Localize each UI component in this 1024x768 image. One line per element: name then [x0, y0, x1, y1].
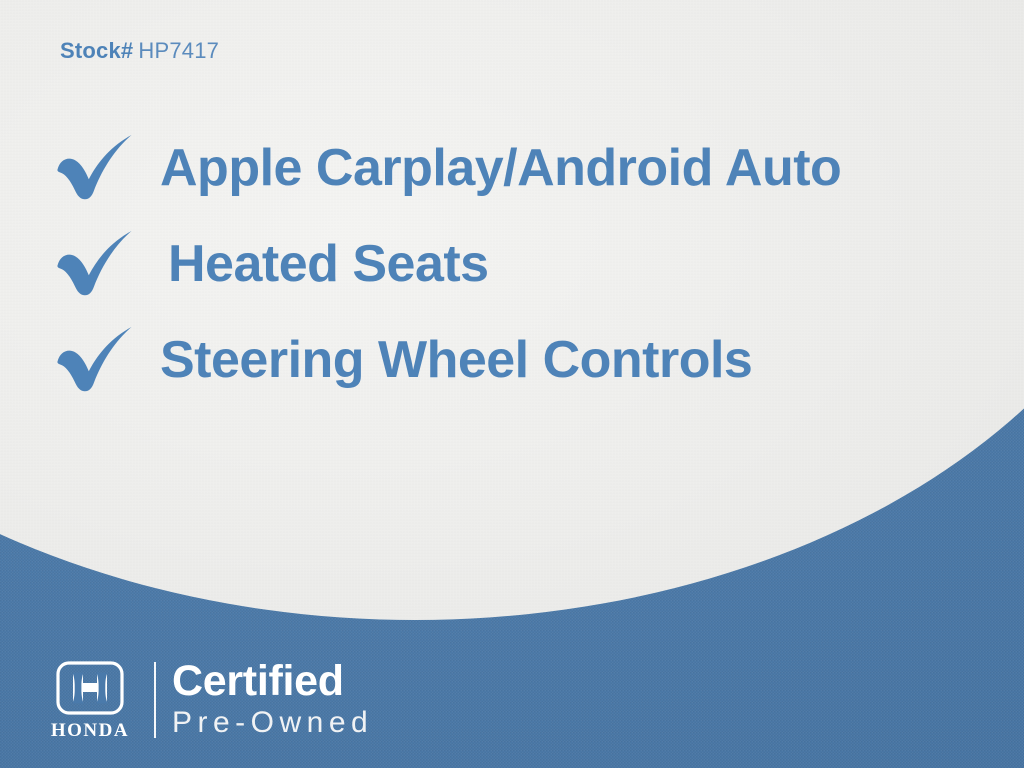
checkmark-icon: [52, 133, 136, 207]
certified-pre-owned-text: Certified Pre-Owned: [172, 660, 373, 740]
checkmark-icon: [52, 229, 136, 303]
honda-h-logo-icon: [55, 660, 125, 716]
badge-divider: [154, 662, 156, 738]
honda-brand-block: HONDA: [40, 660, 140, 740]
feature-item: Heated Seats: [52, 218, 972, 314]
feature-label: Heated Seats: [168, 238, 489, 290]
feature-label: Apple Carplay/Android Auto: [160, 142, 841, 194]
feature-item: Apple Carplay/Android Auto: [52, 122, 972, 218]
honda-certified-pre-owned-badge: HONDA Certified Pre-Owned: [40, 654, 373, 746]
checkmark-icon: [52, 325, 136, 399]
stock-number-label: Stock#: [60, 38, 133, 63]
stock-number-value: HP7417: [138, 38, 219, 63]
feature-item: Steering Wheel Controls: [52, 314, 972, 410]
feature-list: Apple Carplay/Android Auto Heated Seats …: [52, 122, 972, 410]
stock-number: Stock#HP7417: [60, 38, 219, 64]
certified-label: Certified: [172, 660, 373, 704]
feature-label: Steering Wheel Controls: [160, 334, 752, 386]
pre-owned-label: Pre-Owned: [172, 706, 373, 741]
vehicle-feature-slide: Stock#HP7417 Apple Carplay/Android Auto …: [0, 0, 1024, 768]
honda-wordmark: HONDA: [51, 721, 129, 740]
